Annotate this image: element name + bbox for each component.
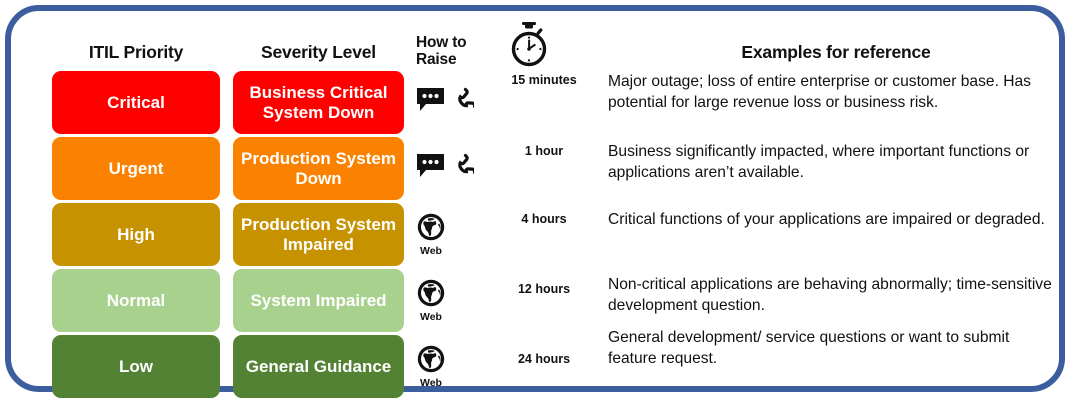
- severity-label: General Guidance: [246, 357, 392, 376]
- response-time-urgent: 1 hour: [489, 144, 599, 158]
- globe-icon: [416, 344, 446, 379]
- globe-icon: [416, 212, 446, 247]
- web-label: Web: [420, 378, 442, 389]
- column-header-itil-priority: ITIL Priority: [52, 43, 220, 62]
- severity-pill-general-guidance[interactable]: General Guidance: [233, 335, 404, 398]
- web-label: Web: [420, 312, 442, 323]
- column-header-how-to-raise: How to Raise: [416, 35, 478, 68]
- stopwatch-icon: [505, 21, 553, 74]
- response-time-critical: 15 minutes: [489, 73, 599, 87]
- priority-label: Critical: [107, 93, 165, 112]
- raise-method-normal[interactable]: Web: [416, 269, 486, 331]
- severity-pill-production-system-impaired[interactable]: Production System Impaired: [233, 203, 404, 266]
- severity-pill-production-system-down[interactable]: Production System Down: [233, 137, 404, 200]
- phone-handset-icon: [449, 87, 474, 118]
- example-text-urgent: Business significantly impacted, where i…: [608, 142, 1060, 183]
- priority-pill-low[interactable]: Low: [52, 335, 220, 398]
- globe-icon: [416, 278, 446, 313]
- severity-pill-business-critical-system-down[interactable]: Business Critical System Down: [233, 71, 404, 134]
- response-time-normal: 12 hours: [489, 282, 599, 296]
- priority-matrix-frame: ITIL Priority Severity Level How to Rais…: [5, 5, 1065, 392]
- severity-label: Production System Down: [233, 149, 404, 187]
- column-header-examples: Examples for reference: [601, 43, 1071, 62]
- web-label: Web: [420, 246, 442, 257]
- priority-label: High: [117, 225, 155, 244]
- example-text-critical: Major outage; loss of entire enterprise …: [608, 72, 1060, 113]
- example-text-low: General development/ service questions o…: [608, 328, 1060, 369]
- priority-label: Urgent: [109, 159, 164, 178]
- raise-method-urgent[interactable]: [416, 139, 486, 197]
- priority-pill-urgent[interactable]: Urgent: [52, 137, 220, 200]
- severity-pill-system-impaired[interactable]: System Impaired: [233, 269, 404, 332]
- response-time-low: 24 hours: [489, 352, 599, 366]
- priority-label: Low: [119, 357, 153, 376]
- priority-pill-normal[interactable]: Normal: [52, 269, 220, 332]
- example-text-high: Critical functions of your applications …: [608, 210, 1060, 231]
- chat-bubble-icon: [416, 153, 446, 184]
- priority-label: Normal: [107, 291, 166, 310]
- severity-label: System Impaired: [250, 291, 386, 310]
- priority-pill-high[interactable]: High: [52, 203, 220, 266]
- example-text-normal: Non-critical applications are behaving a…: [608, 275, 1060, 316]
- chat-bubble-icon: [416, 87, 446, 118]
- raise-method-low[interactable]: Web: [416, 335, 486, 397]
- priority-pill-critical[interactable]: Critical: [52, 71, 220, 134]
- column-header-severity-level: Severity Level: [233, 43, 404, 62]
- severity-label: Business Critical System Down: [233, 83, 404, 121]
- phone-handset-icon: [449, 153, 474, 184]
- severity-label: Production System Impaired: [233, 215, 404, 253]
- response-time-high: 4 hours: [489, 212, 599, 226]
- raise-method-critical[interactable]: [416, 73, 486, 131]
- raise-method-high[interactable]: Web: [416, 203, 486, 265]
